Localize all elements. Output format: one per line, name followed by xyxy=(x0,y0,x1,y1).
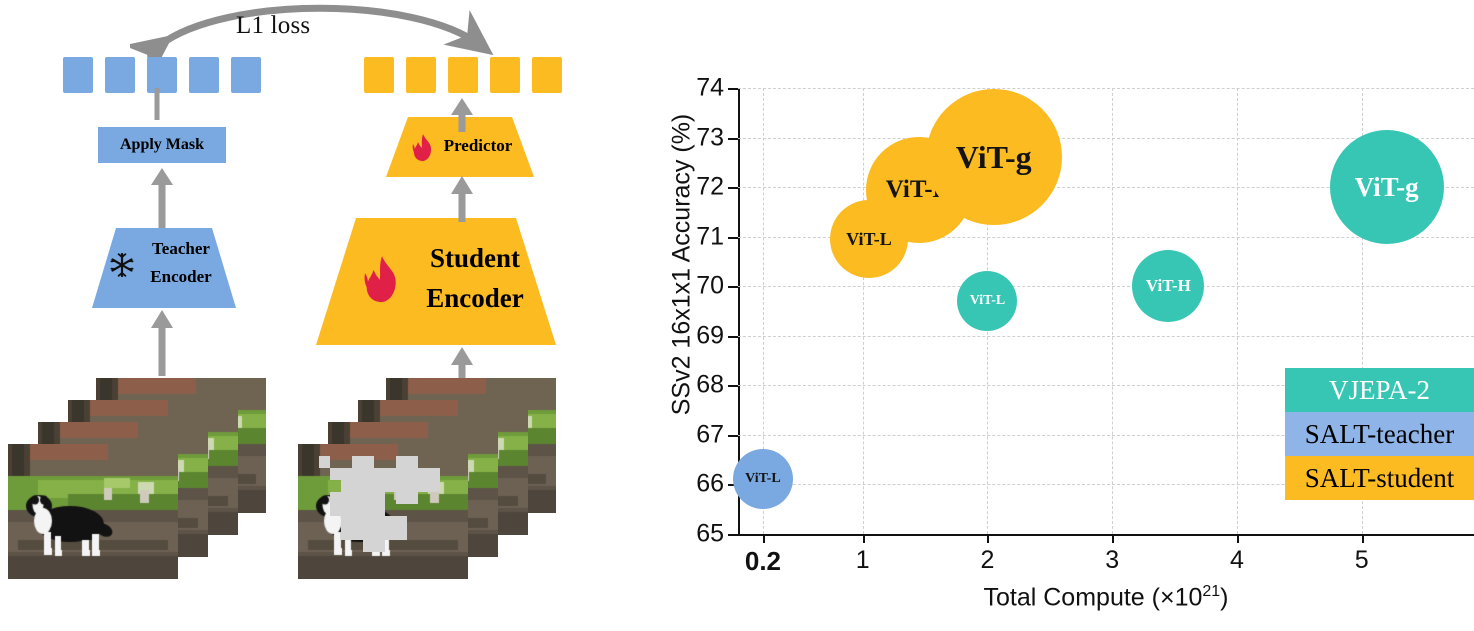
x-axis-tick-label: 0.2 xyxy=(745,546,781,577)
student-encoder-label-line1: Student xyxy=(412,240,538,276)
teacher-token xyxy=(231,57,261,93)
bubble-vjepa-2-vit-g[interactable]: ViT-g xyxy=(1330,130,1444,244)
teacher-token xyxy=(63,57,93,93)
teacher-frame-stack xyxy=(6,378,286,598)
x-axis-tick xyxy=(1112,534,1114,543)
student-encoder-label-line2: Encoder xyxy=(412,280,538,316)
bubble-salt-student-vit-g[interactable]: ViT-g xyxy=(926,89,1062,225)
arrow-frames-to-teacher-encoder xyxy=(148,310,176,378)
y-axis-tick xyxy=(728,187,738,189)
y-axis-tick xyxy=(728,138,738,140)
mask-patches xyxy=(298,444,468,579)
y-axis-tick xyxy=(728,534,738,536)
teacher-encoder-label-line2: Encoder xyxy=(136,264,226,290)
arrow-mask-to-encoder xyxy=(148,168,176,230)
arrow-predictor-to-tokens xyxy=(448,98,476,134)
arrow-tokens-to-applymask xyxy=(148,88,166,120)
l1-loss-arrow xyxy=(130,0,510,62)
arrow-student-encoder-to-predictor xyxy=(448,176,476,224)
x-axis-tick-label: 1 xyxy=(856,546,870,575)
student-token xyxy=(448,57,478,93)
teacher-token xyxy=(105,57,135,93)
legend-item-vjepa-2[interactable]: VJEPA-2 xyxy=(1285,368,1474,412)
student-token xyxy=(490,57,520,93)
y-axis-tick xyxy=(728,237,738,239)
gridline-horizontal xyxy=(738,88,1474,89)
gridline-horizontal xyxy=(738,336,1474,337)
x-axis-title-exponent: 21 xyxy=(1202,583,1220,600)
student-encoder-block: Student Encoder xyxy=(316,218,556,345)
y-axis-tick-label: 65 xyxy=(654,520,724,549)
y-axis-tick xyxy=(728,385,738,387)
snowflake-icon xyxy=(109,252,135,278)
video-frame xyxy=(8,444,178,579)
y-axis-tick xyxy=(728,336,738,338)
student-token xyxy=(406,57,436,93)
x-axis-tick-label: 4 xyxy=(1230,546,1244,575)
flame-icon xyxy=(360,254,404,306)
x-axis-tick-label: 2 xyxy=(981,546,995,575)
student-token-row xyxy=(364,57,562,93)
apply-mask-box: Apply Mask xyxy=(98,127,226,163)
bubble-chart: 65666768697071727374 0.212345 SSv2 16x1x… xyxy=(640,0,1474,631)
x-axis-tick-label: 3 xyxy=(1105,546,1119,575)
x-axis-tick xyxy=(863,534,865,543)
teacher-encoder-label-line1: Teacher xyxy=(136,236,226,262)
y-axis-tick xyxy=(728,435,738,437)
teacher-token xyxy=(189,57,219,93)
apply-mask-label: Apply Mask xyxy=(98,127,226,163)
y-axis-tick xyxy=(728,286,738,288)
student-frame-stack xyxy=(296,378,596,598)
x-axis-tick xyxy=(763,534,765,543)
gridline-vertical xyxy=(1237,88,1238,534)
student-token xyxy=(364,57,394,93)
gridline-horizontal xyxy=(738,286,1474,287)
legend-item-salt-teacher[interactable]: SALT-teacher xyxy=(1285,412,1474,456)
student-token xyxy=(532,57,562,93)
x-axis-tick xyxy=(1237,534,1239,543)
l1-loss-label: L1 loss xyxy=(236,12,310,40)
x-axis-title: Total Compute (×1021) xyxy=(738,583,1474,612)
x-axis-tick xyxy=(987,534,989,543)
legend-item-salt-student[interactable]: SALT-student xyxy=(1285,456,1474,500)
x-axis-title-main: Total Compute (×10 xyxy=(984,583,1203,611)
flame-icon xyxy=(410,134,436,162)
teacher-encoder-block: Teacher Encoder xyxy=(92,228,236,308)
x-axis-tick-label: 5 xyxy=(1355,546,1369,575)
predictor-label: Predictor xyxy=(438,129,518,163)
y-axis-title: SSv2 16x1x1 Accuracy (%) xyxy=(668,55,697,475)
y-axis-tick xyxy=(728,88,738,90)
architecture-diagram: L1 loss Apply Mask P xyxy=(0,0,640,631)
gridline-vertical xyxy=(863,88,864,534)
x-axis-tick xyxy=(1362,534,1364,543)
x-axis-title-suffix: ) xyxy=(1220,583,1228,611)
gridline-vertical xyxy=(1112,88,1113,534)
figure-root: L1 loss Apply Mask P xyxy=(0,0,1474,631)
chart-legend: VJEPA-2SALT-teacherSALT-student xyxy=(1285,368,1474,500)
bubble-salt-teacher-vit-l[interactable]: ViT-L xyxy=(733,449,793,509)
